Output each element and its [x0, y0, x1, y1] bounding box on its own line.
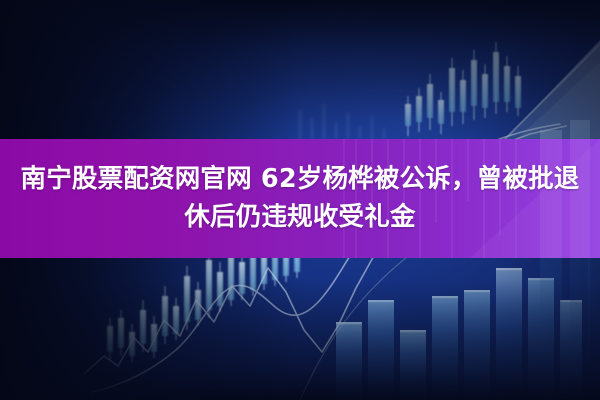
headline-band-texture [0, 139, 600, 258]
news-banner: 南宁股票配资网官网 62岁杨桦被公诉，曾被批退 休后仍违规收受礼金 [0, 0, 600, 400]
headline-band [0, 139, 600, 258]
